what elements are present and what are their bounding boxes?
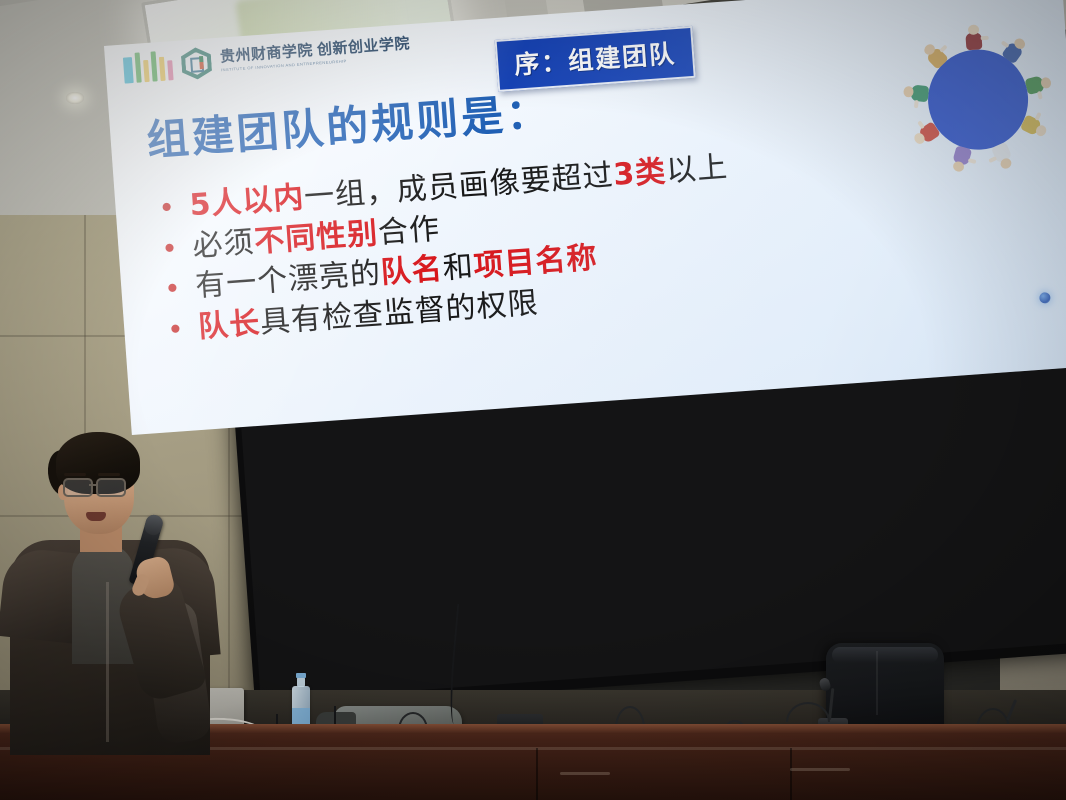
figure-head [999, 157, 1013, 171]
jacket-zipper [106, 582, 109, 742]
desk-panel-seam [536, 748, 538, 800]
figure-arm [988, 156, 997, 163]
logo-color-bars [123, 50, 174, 83]
team-member-figure [902, 82, 930, 105]
highlighted-phrase: 不同性别 [253, 216, 379, 260]
institution-name-block: 贵州财商学院 创新创业学院 INSTITUTE OF INNOVATION AN… [220, 37, 411, 73]
figure-arm [1037, 91, 1043, 100]
downlight-icon [66, 92, 84, 104]
presenter-mouth [86, 512, 106, 521]
figure-body [965, 32, 982, 50]
bullet-marker-icon: • [143, 191, 191, 224]
slide-bullet-list: •5人以内一组，成员画像要超过3类以上•必须不同性别合作•有一个漂亮的队名和项目… [143, 137, 913, 353]
bullet-marker-icon: • [149, 272, 197, 305]
figure-arm [1034, 112, 1041, 121]
logo-bar [135, 52, 142, 82]
glasses-bridge [89, 484, 98, 486]
logo-bar [143, 60, 150, 82]
glasses-lens-right-icon [96, 478, 126, 497]
team-member-figure [989, 140, 1018, 172]
team-member-figure [963, 24, 985, 51]
highlighted-phrase: 队名 [380, 252, 444, 291]
figure-arm [968, 158, 977, 164]
slide-title: 组建团队的规则是： [144, 78, 552, 168]
bullet-marker-icon: • [151, 313, 199, 346]
plain-phrase: 和 [442, 249, 475, 286]
logo-bar [167, 60, 173, 80]
plain-phrase: 以上 [665, 150, 729, 189]
bottle-neck [297, 677, 305, 687]
institution-hex-logo-icon [180, 46, 212, 80]
highlighted-phrase: 5人以内 [188, 180, 305, 223]
team-circle-illustration [899, 21, 1057, 181]
figure-arm [981, 36, 989, 41]
slide-section-banner-label: 序：组建团队 [513, 39, 677, 80]
logo-bar [123, 57, 134, 84]
bullet-marker-icon: • [146, 232, 194, 265]
presentation-slide[interactable]: 贵州财商学院 创新创业学院 INSTITUTE OF INNOVATION AN… [104, 0, 1066, 435]
figure-arm [939, 44, 948, 52]
presenter [10, 432, 215, 752]
glasses-lens-left-icon [63, 478, 93, 497]
microphone-grille-icon [143, 513, 165, 537]
highlighted-phrase: 队长 [197, 305, 261, 344]
mouse-cursor-dot-icon [1039, 292, 1051, 304]
presenter-eyebrow [98, 473, 120, 476]
bottle-cap [296, 673, 306, 678]
desk-panel-seam [790, 748, 792, 800]
logo-bar [151, 51, 158, 81]
logo-bar [159, 57, 166, 81]
highlighted-phrase: 3类 [612, 154, 667, 193]
lecture-hall-photo: 贵州财商学院 创新创业学院 INSTITUTE OF INNOVATION AN… [0, 0, 1066, 800]
team-member-figure [948, 144, 974, 174]
figure-arm [914, 100, 919, 108]
figure-arm [1001, 40, 1010, 48]
team-member-figure [1023, 72, 1053, 98]
desk-panel-handle [790, 768, 850, 771]
highlighted-phrase: 项目名称 [472, 240, 598, 284]
presenter-eyebrow [64, 473, 86, 476]
plain-phrase: 合作 [377, 211, 441, 250]
desk-panel-handle [560, 772, 610, 775]
plain-phrase: 必须 [191, 224, 255, 263]
chair-headrest [832, 647, 938, 663]
figure-body [911, 85, 930, 103]
chair-seam [876, 651, 878, 715]
